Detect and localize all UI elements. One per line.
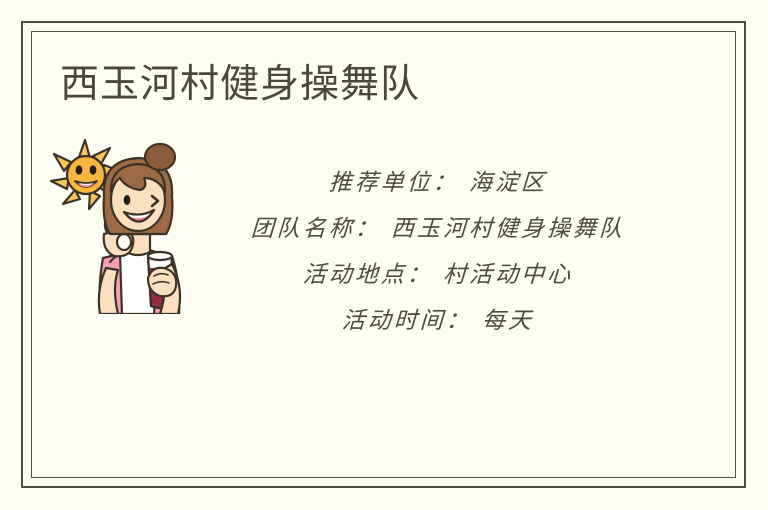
info-line-activity-location: 活动地点： 村活动中心 bbox=[221, 252, 655, 298]
info-block: 推荐单位： 海淀区 团队名称： 西玉河村健身操舞队 活动地点： 村活动中心 活动… bbox=[222, 160, 654, 344]
info-line-recommending-unit: 推荐单位： 海淀区 bbox=[221, 160, 655, 206]
poster-page: 西玉河村健身操舞队 bbox=[0, 0, 768, 510]
page-title: 西玉河村健身操舞队 bbox=[60, 62, 420, 108]
info-line-team-name: 团队名称： 西玉河村健身操舞队 bbox=[221, 206, 655, 252]
info-line-activity-time: 活动时间： 每天 bbox=[221, 298, 655, 344]
illustration-woman-drinking-juice-with-sun bbox=[48, 138, 224, 314]
